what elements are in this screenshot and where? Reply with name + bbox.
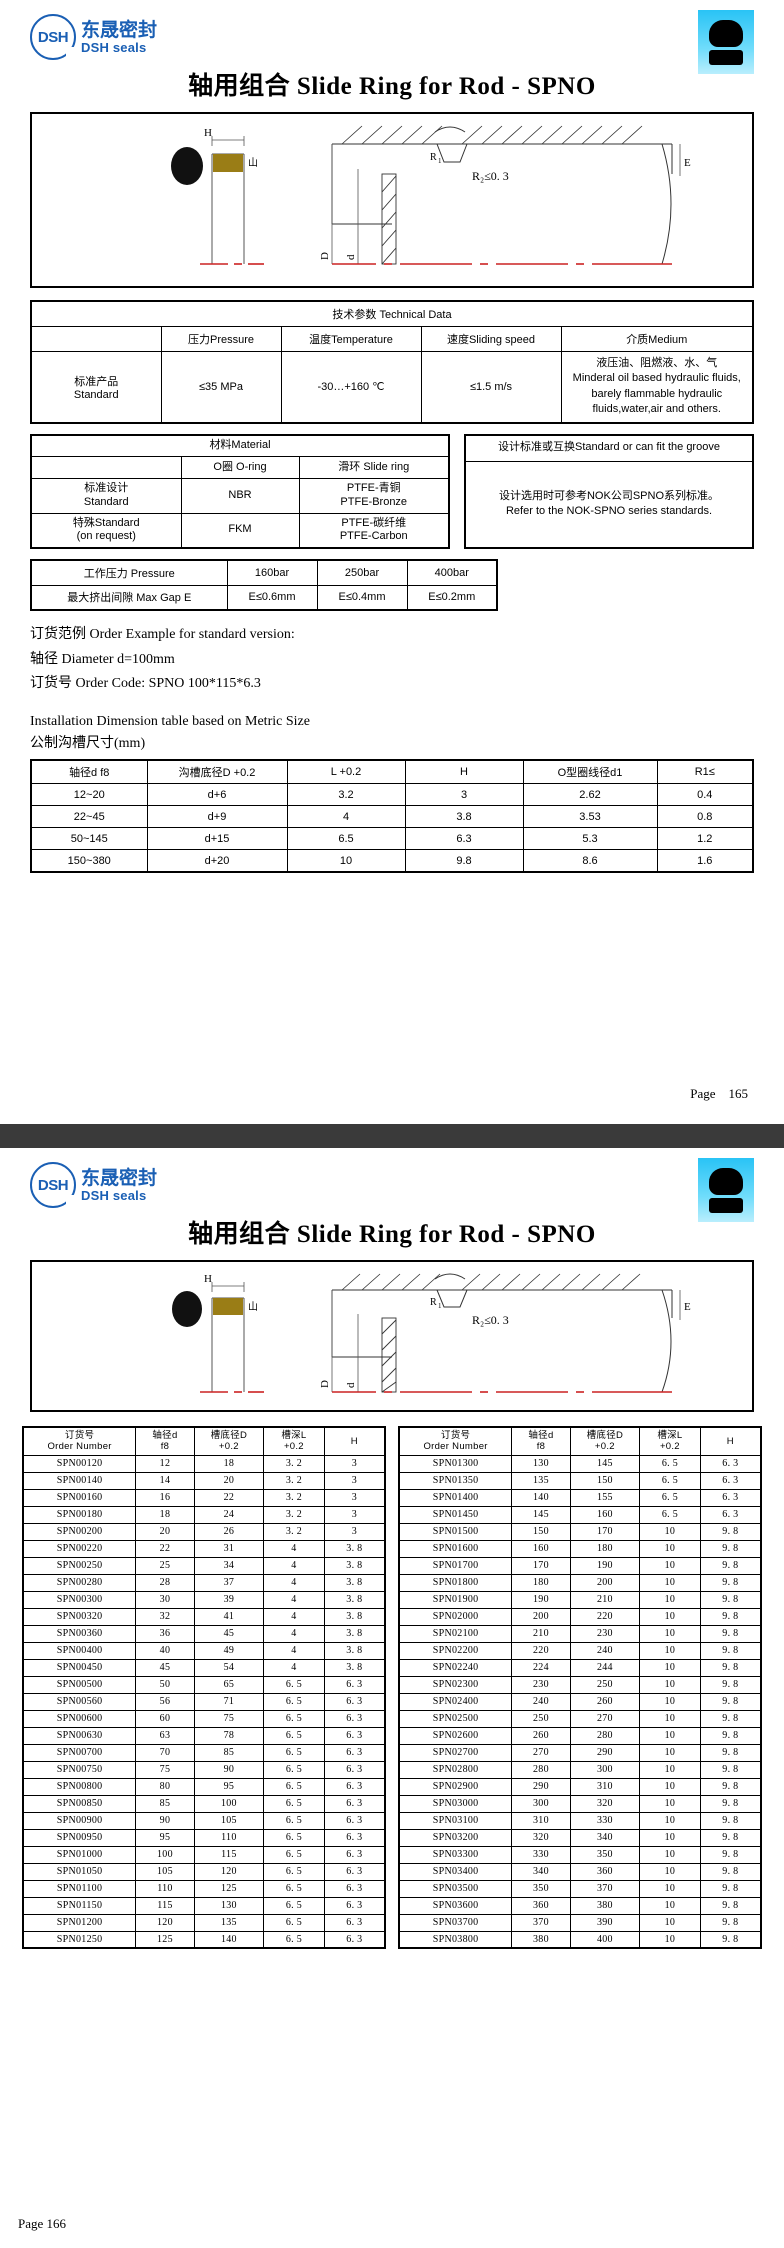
material-table: 材料Material O圈 O-ring 滑环 Slide ring 标准设计 … bbox=[30, 434, 450, 550]
order-dimension-cell: 145 bbox=[512, 1506, 571, 1523]
dim-col-h: H bbox=[405, 760, 523, 784]
order-number-cell: SPN01800 bbox=[399, 1574, 512, 1591]
table-row: SPN0070070856. 56. 3 bbox=[23, 1744, 385, 1761]
order-dimension-cell: 49 bbox=[194, 1642, 263, 1659]
page-number: 165 bbox=[729, 1086, 749, 1101]
order-dimension-cell: 110 bbox=[194, 1829, 263, 1846]
order-table-left-body: SPN0012012183. 23SPN0014014203. 23SPN001… bbox=[23, 1455, 385, 1948]
material-label-special-cn: 特殊Standard bbox=[34, 517, 179, 531]
order-number-cell: SPN01000 bbox=[23, 1846, 136, 1863]
order-dimension-cell: 6. 3 bbox=[324, 1761, 385, 1778]
material-col-slidering: 滑环 Slide ring bbox=[299, 457, 449, 479]
order-dimension-cell: 18 bbox=[194, 1455, 263, 1472]
table-row: SPN012501251406. 56. 3 bbox=[23, 1931, 385, 1948]
order-dimension-cell: 330 bbox=[570, 1812, 639, 1829]
order-number-cell: SPN00280 bbox=[23, 1574, 136, 1591]
order-dimension-cell: 30 bbox=[136, 1591, 195, 1608]
gap-row-maxgap: 最大挤出间隙 Max Gap E E≤0.6mm E≤0.4mm E≤0.2mm bbox=[31, 585, 497, 610]
order-dimension-cell: 3. 2 bbox=[264, 1506, 325, 1523]
order-dimension-cell: 9. 8 bbox=[700, 1625, 761, 1642]
tech-col-temperature: 温度Temperature bbox=[281, 327, 421, 352]
order-number-cell: SPN02300 bbox=[399, 1676, 512, 1693]
order-dimension-cell: 65 bbox=[194, 1676, 263, 1693]
order-col-shaft-cn: 轴径d bbox=[512, 1430, 570, 1441]
order-dimension-cell: 6. 5 bbox=[264, 1846, 325, 1863]
order-dimension-cell: 6. 5 bbox=[264, 1812, 325, 1829]
order-number-cell: SPN02200 bbox=[399, 1642, 512, 1659]
seal-profile-upper bbox=[709, 20, 743, 47]
svg-text:R: R bbox=[430, 1297, 437, 1308]
table-row: SPN014001401556. 56. 3 bbox=[399, 1489, 761, 1506]
medium-en-1: Minderal oil based hydraulic fluids, bbox=[570, 371, 745, 386]
seal-profile-lower bbox=[709, 50, 743, 65]
order-dimension-cell: 3 bbox=[324, 1506, 385, 1523]
order-dimension-cell: 260 bbox=[570, 1693, 639, 1710]
company-name-en: DSH seals bbox=[81, 41, 157, 55]
dim-cell: 0.4 bbox=[657, 784, 753, 806]
table-row: SPN0012012183. 23 bbox=[23, 1455, 385, 1472]
order-dimension-cell: 170 bbox=[512, 1557, 571, 1574]
order-dimension-cell: 130 bbox=[194, 1897, 263, 1914]
table-row: SPN02400240260109. 8 bbox=[399, 1693, 761, 1710]
table-row: SPN0060060756. 56. 3 bbox=[23, 1710, 385, 1727]
seal-ring-icon bbox=[698, 10, 754, 74]
table-row: SPN01800180200109. 8 bbox=[399, 1574, 761, 1591]
gap-value-400: E≤0.2mm bbox=[407, 585, 497, 610]
order-dimension-cell: 3. 8 bbox=[324, 1625, 385, 1642]
brand-header: DSH 东晟密封 DSH seals bbox=[0, 0, 784, 62]
order-number-cell: SPN02100 bbox=[399, 1625, 512, 1642]
dim-col-r1: R1≤ bbox=[657, 760, 753, 784]
order-dimension-cell: 120 bbox=[136, 1914, 195, 1931]
tech-row-label: 标准产品 Standard bbox=[31, 352, 161, 423]
svg-text:d: d bbox=[345, 254, 357, 260]
table-row: SPN02200220240109. 8 bbox=[399, 1642, 761, 1659]
order-dimension-cell: 31 bbox=[194, 1540, 263, 1557]
order-dimension-cell: 150 bbox=[512, 1523, 571, 1540]
table-row: SPN00900901056. 56. 3 bbox=[23, 1812, 385, 1829]
gap-label-maxgap: 最大挤出间隙 Max Gap E bbox=[31, 585, 227, 610]
order-table-left-head: 订货号 Order Number 轴径d f8 槽底径D +0.2 槽深L +0… bbox=[23, 1427, 385, 1455]
order-dimension-cell: 155 bbox=[570, 1489, 639, 1506]
tech-table-caption: 技术参数 Technical Data bbox=[31, 301, 753, 327]
table-row: SPN03600360380109. 8 bbox=[399, 1897, 761, 1914]
svg-text:R₂≤0. 3: R₂≤0. 3 bbox=[472, 1313, 509, 1327]
standard-reference-table: 设计标准或互换Standard or can fit the groove 设计… bbox=[464, 434, 754, 550]
table-row: SPN00320324143. 8 bbox=[23, 1608, 385, 1625]
dim-col-l: L +0.2 bbox=[287, 760, 405, 784]
order-dimension-cell: 3. 8 bbox=[324, 1642, 385, 1659]
order-dimension-cell: 37 bbox=[194, 1574, 263, 1591]
order-dimension-cell: 6. 3 bbox=[324, 1744, 385, 1761]
order-dimension-cell: 3. 8 bbox=[324, 1591, 385, 1608]
order-dimension-cell: 9. 8 bbox=[700, 1914, 761, 1931]
order-dimension-cell: 9. 8 bbox=[700, 1693, 761, 1710]
material-col-blank bbox=[31, 457, 181, 479]
material-label-standard: 标准设计 Standard bbox=[31, 479, 181, 514]
order-dimension-cell: 120 bbox=[194, 1863, 263, 1880]
order-dimension-cell: 320 bbox=[570, 1795, 639, 1812]
order-dimension-cell: 270 bbox=[512, 1744, 571, 1761]
order-dimension-cell: 18 bbox=[136, 1506, 195, 1523]
tech-col-pressure: 压力Pressure bbox=[161, 327, 281, 352]
table-row: SPN03400340360109. 8 bbox=[399, 1863, 761, 1880]
technical-data-table: 技术参数 Technical Data 压力Pressure 温度Tempera… bbox=[30, 300, 754, 424]
gap-value-160: E≤0.6mm bbox=[227, 585, 317, 610]
table-row: SPN011001101256. 56. 3 bbox=[23, 1880, 385, 1897]
dim-cell: 0.8 bbox=[657, 806, 753, 828]
seal-cross-section-svg-2: H 山 bbox=[32, 1262, 752, 1414]
order-dimension-cell: 10 bbox=[640, 1676, 701, 1693]
order-dimension-cell: 135 bbox=[194, 1914, 263, 1931]
order-dimension-cell: 6. 3 bbox=[324, 1846, 385, 1863]
material-label-special: 特殊Standard (on request) bbox=[31, 513, 181, 548]
order-dimension-cell: 4 bbox=[264, 1608, 325, 1625]
order-col-h: H bbox=[324, 1427, 385, 1455]
order-dimension-cell: 3 bbox=[324, 1455, 385, 1472]
order-dimension-cell: 135 bbox=[512, 1472, 571, 1489]
table-caption-row: 技术参数 Technical Data bbox=[31, 301, 753, 327]
order-number-cell: SPN01100 bbox=[23, 1880, 136, 1897]
table-row: SPN03000300320109. 8 bbox=[399, 1795, 761, 1812]
order-dimension-cell: 10 bbox=[640, 1727, 701, 1744]
tech-value-speed: ≤1.5 m/s bbox=[421, 352, 561, 423]
order-dimension-cell: 130 bbox=[512, 1455, 571, 1472]
table-row: SPN02600260280109. 8 bbox=[399, 1727, 761, 1744]
dim-cell: 22~45 bbox=[31, 806, 147, 828]
order-col-shaft: 轴径d f8 bbox=[512, 1427, 571, 1455]
order-dimension-cell: 10 bbox=[640, 1914, 701, 1931]
material-label-standard-cn: 标准设计 bbox=[34, 482, 179, 496]
order-dimension-cell: 60 bbox=[136, 1710, 195, 1727]
order-number-cell: SPN00500 bbox=[23, 1676, 136, 1693]
order-dimension-cell: 6. 3 bbox=[324, 1829, 385, 1846]
dim-col-oring-d1: O型圈线径d1 bbox=[523, 760, 657, 784]
order-dimension-cell: 3. 8 bbox=[324, 1557, 385, 1574]
order-col-groove-dia: 槽底径D +0.2 bbox=[570, 1427, 639, 1455]
order-example-line-2: 轴径 Diameter d=100mm bbox=[30, 648, 754, 673]
order-dimension-cell: 270 bbox=[570, 1710, 639, 1727]
material-oring-special: FKM bbox=[181, 513, 299, 548]
order-dimension-cell: 105 bbox=[194, 1812, 263, 1829]
order-dimension-cell: 9. 8 bbox=[700, 1608, 761, 1625]
order-dimension-cell: 3 bbox=[324, 1472, 385, 1489]
table-row: SPN0080080956. 56. 3 bbox=[23, 1778, 385, 1795]
order-dimension-cell: 10 bbox=[640, 1557, 701, 1574]
order-number-cell: SPN00320 bbox=[23, 1608, 136, 1625]
order-table-left: 订货号 Order Number 轴径d f8 槽底径D +0.2 槽深L +0… bbox=[22, 1426, 386, 1949]
dim-cell: 9.8 bbox=[405, 850, 523, 872]
order-number-cell: SPN02000 bbox=[399, 1608, 512, 1625]
table-row: SPN02500250270109. 8 bbox=[399, 1710, 761, 1727]
order-col-number: 订货号 Order Number bbox=[23, 1427, 136, 1455]
order-dimension-cell: 34 bbox=[194, 1557, 263, 1574]
order-number-cell: SPN00360 bbox=[23, 1625, 136, 1642]
order-dimension-cell: 10 bbox=[640, 1540, 701, 1557]
order-col-shaft-en: f8 bbox=[136, 1441, 194, 1452]
dim-cell: 2.62 bbox=[523, 784, 657, 806]
order-number-cell: SPN00250 bbox=[23, 1557, 136, 1574]
tech-row-label-cn: 标准产品 bbox=[34, 373, 159, 389]
order-dimension-cell: 360 bbox=[570, 1863, 639, 1880]
order-dimension-cell: 10 bbox=[640, 1761, 701, 1778]
order-dimension-cell: 9. 8 bbox=[700, 1710, 761, 1727]
order-number-cell: SPN00800 bbox=[23, 1778, 136, 1795]
material-slide-special: PTFE-碳纤维 PTFE-Carbon bbox=[299, 513, 449, 548]
order-header-row: 订货号 Order Number 轴径d f8 槽底径D +0.2 槽深L +0… bbox=[399, 1427, 761, 1455]
order-dimension-cell: 45 bbox=[136, 1659, 195, 1676]
table-row: SPN03500350370109. 8 bbox=[399, 1880, 761, 1897]
order-dimension-cell: 6. 5 bbox=[264, 1676, 325, 1693]
order-dimension-cell: 10 bbox=[640, 1846, 701, 1863]
order-dimension-cell: 125 bbox=[194, 1880, 263, 1897]
gap-label-pressure: 工作压力 Pressure bbox=[31, 560, 227, 585]
order-dimension-cell: 22 bbox=[194, 1489, 263, 1506]
order-dimension-cell: 6. 3 bbox=[324, 1880, 385, 1897]
order-number-cell: SPN00900 bbox=[23, 1812, 136, 1829]
table-row: SPN00300303943. 8 bbox=[23, 1591, 385, 1608]
order-dimension-cell: 90 bbox=[136, 1812, 195, 1829]
table-row: SPN02900290310109. 8 bbox=[399, 1778, 761, 1795]
material-slide-standard-cn: PTFE-青铜 bbox=[302, 482, 447, 496]
order-dimension-cell: 9. 8 bbox=[700, 1676, 761, 1693]
page-footer-2: Page 166 bbox=[18, 2216, 66, 2232]
svg-text:D: D bbox=[319, 252, 331, 260]
order-number-cell: SPN00300 bbox=[23, 1591, 136, 1608]
gap-row-pressure: 工作压力 Pressure 160bar 250bar 400bar bbox=[31, 560, 497, 585]
material-row-standard: 标准设计 Standard NBR PTFE-青铜 PTFE-Bronze bbox=[31, 479, 449, 514]
catalog-page-2: DSH 东晟密封 DSH seals 轴用组合 Slide Ring for R… bbox=[0, 1148, 784, 2248]
table-row: SPN00950951106. 56. 3 bbox=[23, 1829, 385, 1846]
order-dimension-cell: 3. 2 bbox=[264, 1455, 325, 1472]
order-dimension-cell: 6. 3 bbox=[324, 1676, 385, 1693]
page-label: Page bbox=[690, 1086, 715, 1101]
order-dimension-cell: 54 bbox=[194, 1659, 263, 1676]
table-row: 22~45 d+9 4 3.8 3.53 0.8 bbox=[31, 806, 753, 828]
order-dimension-cell: 340 bbox=[512, 1863, 571, 1880]
order-dimension-cell: 340 bbox=[570, 1829, 639, 1846]
order-dimension-cell: 9. 8 bbox=[700, 1931, 761, 1948]
table-row: SPN01900190210109. 8 bbox=[399, 1591, 761, 1608]
order-dimension-cell: 6. 5 bbox=[264, 1710, 325, 1727]
order-number-cell: SPN01300 bbox=[399, 1455, 512, 1472]
order-dimension-cell: 390 bbox=[570, 1914, 639, 1931]
order-dimension-cell: 360 bbox=[512, 1897, 571, 1914]
tech-header-row: 压力Pressure 温度Temperature 速度Sliding speed… bbox=[31, 327, 753, 352]
material-label-special-en: (on request) bbox=[34, 530, 179, 544]
order-dimension-cell: 170 bbox=[570, 1523, 639, 1540]
order-col-number-cn: 订货号 bbox=[24, 1430, 135, 1441]
order-dimension-cell: 80 bbox=[136, 1778, 195, 1795]
order-example-block: 订货范例 Order Example for standard version:… bbox=[30, 623, 754, 697]
order-dimension-cell: 160 bbox=[570, 1506, 639, 1523]
table-row: SPN00360364543. 8 bbox=[23, 1625, 385, 1642]
order-dimension-cell: 9. 8 bbox=[700, 1880, 761, 1897]
medium-cn: 液压油、阻燃液、水、气 bbox=[570, 356, 745, 371]
order-dimension-cell: 22 bbox=[136, 1540, 195, 1557]
order-dimension-cell: 6. 5 bbox=[264, 1727, 325, 1744]
table-row: 150~380 d+20 10 9.8 8.6 1.6 bbox=[31, 850, 753, 872]
order-number-cell: SPN01450 bbox=[399, 1506, 512, 1523]
order-dimension-cell: 9. 8 bbox=[700, 1761, 761, 1778]
order-dimension-cell: 250 bbox=[570, 1676, 639, 1693]
order-number-cell: SPN00140 bbox=[23, 1472, 136, 1489]
order-dimension-cell: 6. 5 bbox=[264, 1795, 325, 1812]
table-row: SPN03100310330109. 8 bbox=[399, 1812, 761, 1829]
order-dimension-cell: 240 bbox=[512, 1693, 571, 1710]
material-label-standard-en: Standard bbox=[34, 496, 179, 510]
dsh-logo-icon: DSH bbox=[30, 1162, 76, 1208]
order-number-cell: SPN01500 bbox=[399, 1523, 512, 1540]
company-name-en: DSH seals bbox=[81, 1189, 157, 1203]
order-dimension-cell: 310 bbox=[570, 1778, 639, 1795]
table-row: SPN03200320340109. 8 bbox=[399, 1829, 761, 1846]
order-number-cell: SPN01900 bbox=[399, 1591, 512, 1608]
order-col-number-en: Order Number bbox=[24, 1441, 135, 1452]
order-dimension-cell: 9. 8 bbox=[700, 1846, 761, 1863]
material-slide-special-en: PTFE-Carbon bbox=[302, 530, 447, 544]
dim-cell: d+20 bbox=[147, 850, 287, 872]
order-dimension-cell: 6. 5 bbox=[264, 1693, 325, 1710]
order-dimension-cell: 10 bbox=[640, 1778, 701, 1795]
order-dimension-cell: 6. 3 bbox=[324, 1931, 385, 1948]
dim-cell: 1.2 bbox=[657, 828, 753, 850]
brand-header-2: DSH 东晟密封 DSH seals bbox=[0, 1148, 784, 1210]
order-dimension-cell: 6. 5 bbox=[264, 1744, 325, 1761]
svg-text:E: E bbox=[684, 1301, 691, 1313]
order-col-groove-dia-tol: +0.2 bbox=[571, 1441, 639, 1452]
order-number-cell: SPN02240 bbox=[399, 1659, 512, 1676]
order-dimension-cell: 350 bbox=[570, 1846, 639, 1863]
cross-section-drawing-2: H 山 bbox=[30, 1260, 754, 1412]
tech-value-medium: 液压油、阻燃液、水、气 Minderal oil based hydraulic… bbox=[561, 352, 753, 423]
dim-cell: d+6 bbox=[147, 784, 287, 806]
table-row: SPN0020020263. 23 bbox=[23, 1523, 385, 1540]
order-dimension-cell: 160 bbox=[512, 1540, 571, 1557]
order-dimension-cell: 330 bbox=[512, 1846, 571, 1863]
order-dimension-cell: 3. 8 bbox=[324, 1540, 385, 1557]
order-dimension-cell: 240 bbox=[570, 1642, 639, 1659]
order-dimension-cell: 9. 8 bbox=[700, 1795, 761, 1812]
standard-body-cn: 设计选用时可参考NOK公司SPNO系列标准。 bbox=[468, 489, 750, 505]
order-dimension-cell: 71 bbox=[194, 1693, 263, 1710]
order-dimension-cell: 300 bbox=[570, 1761, 639, 1778]
svg-text:R₂≤0. 3: R₂≤0. 3 bbox=[472, 169, 509, 183]
order-number-cell: SPN03700 bbox=[399, 1914, 512, 1931]
page-separator bbox=[0, 1124, 784, 1148]
table-row: SPN03300330350109. 8 bbox=[399, 1846, 761, 1863]
order-dimension-cell: 3 bbox=[324, 1489, 385, 1506]
table-row: SPN02100210230109. 8 bbox=[399, 1625, 761, 1642]
table-row: SPN013501351506. 56. 3 bbox=[399, 1472, 761, 1489]
order-dimension-cell: 6. 3 bbox=[324, 1727, 385, 1744]
standard-caption: 设计标准或互换Standard or can fit the groove bbox=[465, 435, 753, 462]
table-row: SPN02000200220109. 8 bbox=[399, 1608, 761, 1625]
order-dimension-cell: 244 bbox=[570, 1659, 639, 1676]
order-dimension-cell: 6. 3 bbox=[700, 1506, 761, 1523]
order-dimension-cell: 290 bbox=[570, 1744, 639, 1761]
order-dimension-cell: 20 bbox=[194, 1472, 263, 1489]
table-row: SPN03800380400109. 8 bbox=[399, 1931, 761, 1948]
company-logo-2: DSH 东晟密封 DSH seals bbox=[30, 1162, 784, 1208]
svg-text:H: H bbox=[204, 1273, 212, 1285]
order-dimension-cell: 4 bbox=[264, 1557, 325, 1574]
dim-cell: 8.6 bbox=[523, 850, 657, 872]
order-dimension-cell: 220 bbox=[570, 1608, 639, 1625]
order-dimension-cell: 6. 5 bbox=[264, 1897, 325, 1914]
order-dimension-cell: 36 bbox=[136, 1625, 195, 1642]
company-name-cn: 东晟密封 bbox=[81, 21, 157, 41]
svg-text:d: d bbox=[345, 1382, 357, 1388]
order-dimension-cell: 220 bbox=[512, 1642, 571, 1659]
seal-profile-upper bbox=[709, 1168, 743, 1195]
order-header-row: 订货号 Order Number 轴径d f8 槽底径D +0.2 槽深L +0… bbox=[23, 1427, 385, 1455]
order-dimension-cell: 75 bbox=[136, 1761, 195, 1778]
standard-body: 设计选用时可参考NOK公司SPNO系列标准。 Refer to the NOK-… bbox=[465, 461, 753, 548]
order-col-groove-depth: 槽深L +0.2 bbox=[640, 1427, 701, 1455]
order-dimension-cell: 6. 3 bbox=[324, 1693, 385, 1710]
order-number-cell: SPN00700 bbox=[23, 1744, 136, 1761]
order-number-cell: SPN02900 bbox=[399, 1778, 512, 1795]
dim-cell: 6.5 bbox=[287, 828, 405, 850]
order-dimension-cell: 9. 8 bbox=[700, 1778, 761, 1795]
order-dimension-cell: 3. 2 bbox=[264, 1472, 325, 1489]
order-dimension-cell: 200 bbox=[512, 1608, 571, 1625]
order-dimension-cell: 105 bbox=[136, 1863, 195, 1880]
order-number-cell: SPN01150 bbox=[23, 1897, 136, 1914]
logo-text-block-2: 东晟密封 DSH seals bbox=[81, 1167, 157, 1203]
order-dimension-cell: 39 bbox=[194, 1591, 263, 1608]
dim-cell: 5.3 bbox=[523, 828, 657, 850]
table-row: SPN0075075906. 56. 3 bbox=[23, 1761, 385, 1778]
seal-profile-lower bbox=[709, 1198, 743, 1213]
dim-cell: 6.3 bbox=[405, 828, 523, 850]
svg-text:山: 山 bbox=[248, 1301, 258, 1313]
table-row: SPN00220223143. 8 bbox=[23, 1540, 385, 1557]
order-number-cell: SPN03200 bbox=[399, 1829, 512, 1846]
standard-caption-row: 设计标准或互换Standard or can fit the groove bbox=[465, 435, 753, 462]
order-number-cell: SPN01200 bbox=[23, 1914, 136, 1931]
order-dimension-cell: 4 bbox=[264, 1591, 325, 1608]
order-dimension-cell: 290 bbox=[512, 1778, 571, 1795]
order-dimension-cell: 180 bbox=[512, 1574, 571, 1591]
order-dimension-cell: 10 bbox=[640, 1523, 701, 1540]
dim-cell: 4 bbox=[287, 806, 405, 828]
order-dimension-cell: 9. 8 bbox=[700, 1897, 761, 1914]
tech-value-pressure: ≤35 MPa bbox=[161, 352, 281, 423]
installation-note-cn: 公制沟槽尺寸(mm) bbox=[30, 733, 754, 755]
order-dimension-cell: 6. 5 bbox=[640, 1455, 701, 1472]
table-row: SPN0016016223. 23 bbox=[23, 1489, 385, 1506]
order-number-cell: SPN03300 bbox=[399, 1846, 512, 1863]
order-number-cell: SPN02400 bbox=[399, 1693, 512, 1710]
order-number-cell: SPN02700 bbox=[399, 1744, 512, 1761]
material-and-standard-row: 材料Material O圈 O-ring 滑环 Slide ring 标准设计 … bbox=[30, 434, 754, 550]
order-dimension-cell: 310 bbox=[512, 1812, 571, 1829]
order-dimension-cell: 3. 8 bbox=[324, 1574, 385, 1591]
order-dimension-cell: 10 bbox=[640, 1608, 701, 1625]
order-dimension-cell: 320 bbox=[512, 1829, 571, 1846]
order-dimension-cell: 9. 8 bbox=[700, 1591, 761, 1608]
order-dimension-cell: 6. 5 bbox=[640, 1506, 701, 1523]
logo-text-block: 东晟密封 DSH seals bbox=[81, 19, 157, 55]
dim-cell: 12~20 bbox=[31, 784, 147, 806]
order-col-groove-depth-tol: +0.2 bbox=[264, 1441, 324, 1452]
order-dimension-cell: 14 bbox=[136, 1472, 195, 1489]
order-dimension-cell: 9. 8 bbox=[700, 1557, 761, 1574]
order-dimension-cell: 85 bbox=[136, 1795, 195, 1812]
order-col-shaft-cn: 轴径d bbox=[136, 1430, 194, 1441]
